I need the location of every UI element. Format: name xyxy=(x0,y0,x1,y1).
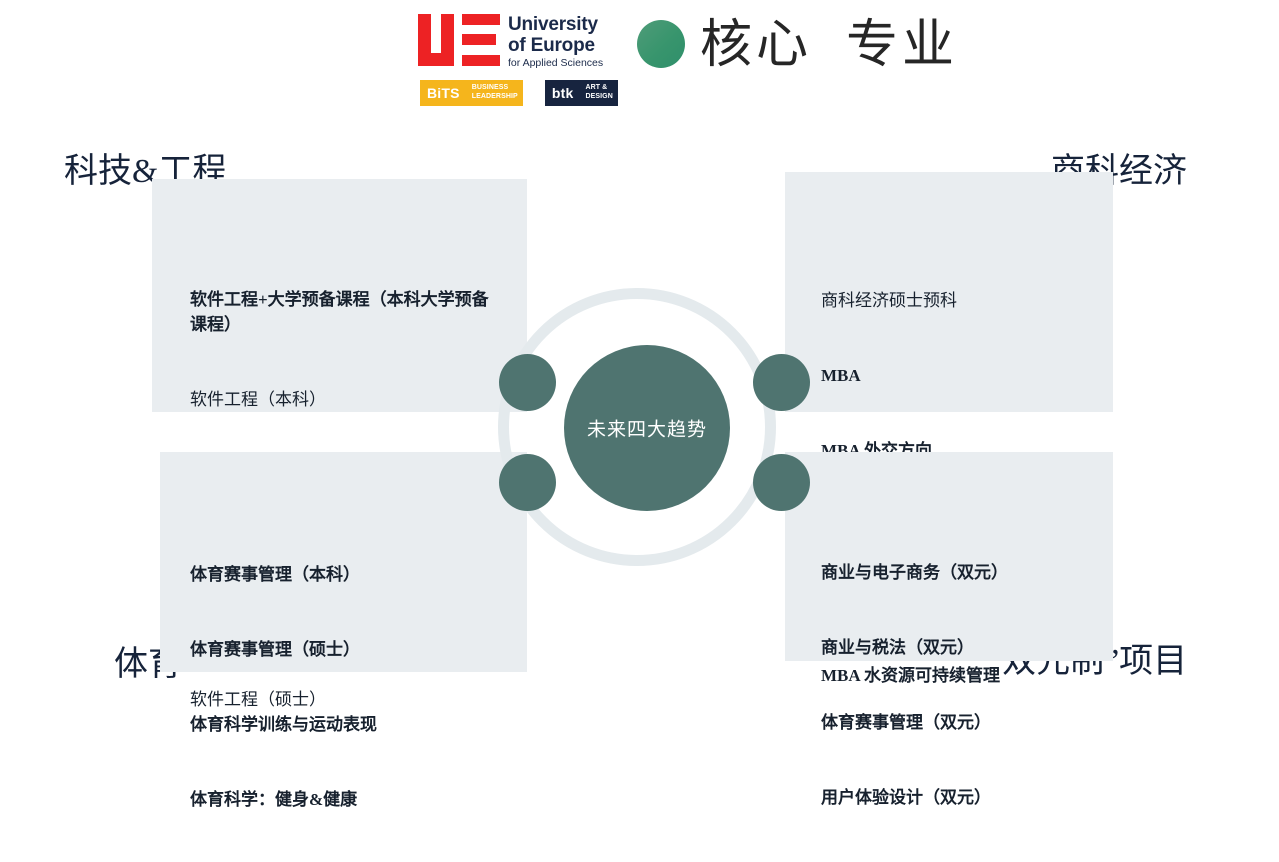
hub-core-label: 未来四大趋势 xyxy=(564,415,730,442)
ue-monogram-icon xyxy=(418,14,500,66)
btk-logo-tag: ART & DESIGN xyxy=(580,80,617,106)
list-item: MBA xyxy=(821,363,1111,388)
list-item: 软件工程（本科） xyxy=(190,387,500,412)
btk-tag-line-2: DESIGN xyxy=(585,93,612,102)
bits-logo-mark: BiTS xyxy=(420,80,467,106)
bits-tag-line-2: LEADERSHIP xyxy=(472,93,518,102)
btk-logo: btk ART & DESIGN xyxy=(545,80,618,106)
list-item: 体育科学：健身&健康 xyxy=(190,787,510,812)
list-item: 商业与电子商务（双元） xyxy=(821,560,1111,585)
slide-header: University of Europe for Applied Science… xyxy=(0,0,1279,120)
center-hub: 未来四大趋势 xyxy=(498,288,788,578)
bits-tag-line-1: BUSINESS xyxy=(472,84,518,93)
hub-satellite-top-right xyxy=(753,354,810,411)
list-item: 商科经济硕士预科 xyxy=(821,288,1111,313)
bits-logo: BiTS BUSINESS LEADERSHIP xyxy=(420,80,523,106)
hub-satellite-bottom-right xyxy=(753,454,810,511)
list-item: 体育赛事管理（双元） xyxy=(821,710,1111,735)
wordmark-line-2: of Europe xyxy=(508,36,603,55)
panel-dual-programs: 商业与电子商务（双元） 商业与税法（双元） 体育赛事管理（双元） 用户体验设计（… xyxy=(785,452,1113,661)
page-title: 核心 专业 xyxy=(700,18,958,74)
list-item: 软件工程+大学预备课程（本科大学预备课程） xyxy=(190,287,500,337)
hub-satellite-top-left xyxy=(499,354,556,411)
wordmark-line-1: University xyxy=(508,15,603,34)
panel-tech-engineering: 软件工程+大学预备课程（本科大学预备课程） 软件工程（本科） 数字产品管理（本科… xyxy=(152,179,527,412)
list-item: 体育赛事管理（本科） xyxy=(190,562,510,587)
partner-logo-row: BiTS BUSINESS LEADERSHIP btk ART & DESIG… xyxy=(420,80,618,106)
list-item: 体育赛事管理（硕士） xyxy=(190,637,510,662)
hub-satellite-bottom-left xyxy=(499,454,556,511)
list-item: 体育科学训练与运动表现 xyxy=(190,712,510,737)
btk-logo-mark: btk xyxy=(545,80,581,106)
ue-wordmark: University of Europe for Applied Science… xyxy=(508,14,603,69)
university-logo-block: University of Europe for Applied Science… xyxy=(418,14,623,109)
wordmark-line-3: for Applied Sciences xyxy=(508,58,603,69)
hub-core-circle: 未来四大趋势 xyxy=(564,345,730,511)
program-list-sports: 体育赛事管理（本科） 体育赛事管理（硕士） 体育科学训练与运动表现 体育科学：健… xyxy=(190,512,510,862)
bits-logo-tag: BUSINESS LEADERSHIP xyxy=(467,80,523,106)
green-circle-icon xyxy=(637,20,685,68)
panel-business-economics: 商科经济硕士预科 MBA MBA 外交方向 MBA 数字科技 MBA 货运与物流… xyxy=(785,172,1113,412)
list-item-text: 软件工程+大学预备课程（本科大学预备课程） xyxy=(190,290,489,334)
panel-sports: 体育赛事管理（本科） 体育赛事管理（硕士） 体育科学训练与运动表现 体育科学：健… xyxy=(160,452,527,672)
list-item: 商业与税法（双元） xyxy=(821,635,1111,660)
list-item: 用户体验设计（双元） xyxy=(821,785,1111,810)
program-list-dual: 商业与电子商务（双元） 商业与税法（双元） 体育赛事管理（双元） 用户体验设计（… xyxy=(821,510,1111,860)
btk-tag-line-1: ART & xyxy=(585,84,612,93)
ue-logo: University of Europe for Applied Science… xyxy=(418,14,603,69)
